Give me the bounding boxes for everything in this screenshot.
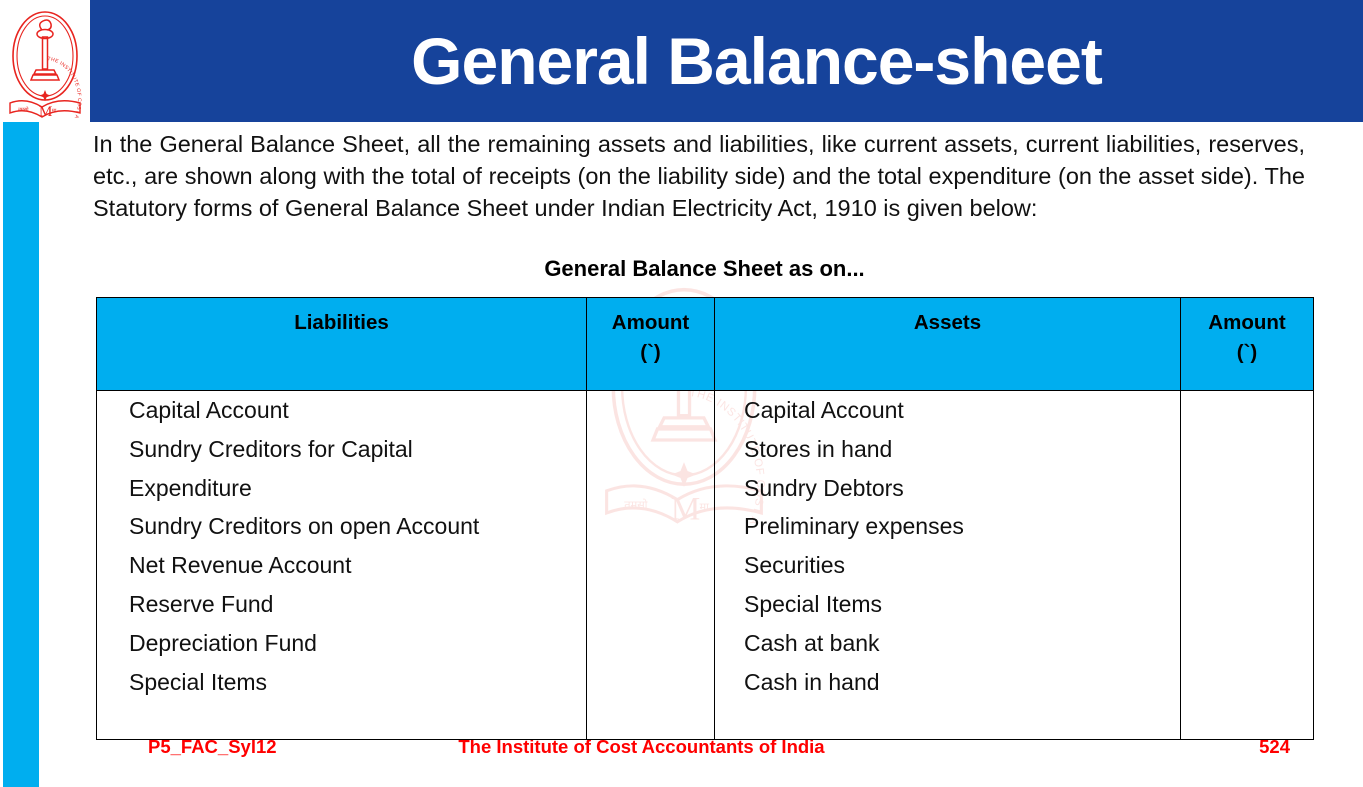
table-caption: General Balance Sheet as on... [96,256,1313,282]
institute-logo: THE INSTITUTE OF COST ACCOUNTANTS OF IND… [6,4,84,118]
list-item: Cash in hand [715,663,1180,702]
list-item: Expenditure [97,469,586,508]
header-label: Assets [914,311,981,334]
svg-text:मा: मा [52,108,57,114]
list-item: Special Items [715,585,1180,624]
column-header-assets: Assets [715,298,1181,391]
header-label-line1: Amount [1208,311,1285,334]
general-balance-sheet-table: Liabilities Amount (`) Assets Amount (`)… [96,297,1314,740]
table-body-row: Capital AccountSundry Creditors for Capi… [97,391,1314,740]
assets-cell: Capital AccountStores in handSundry Debt… [715,391,1181,740]
list-item: Special Items [97,663,586,702]
table-header-row: Liabilities Amount (`) Assets Amount (`) [97,298,1314,391]
header-label-line2: (`) [1237,341,1257,364]
body-paragraph: In the General Balance Sheet, all the re… [93,128,1305,224]
svg-text:तमसो: तमसो [18,106,29,113]
left-accent-stripe [3,122,39,787]
list-item: Reserve Fund [97,585,586,624]
list-item: Securities [715,546,1180,585]
amount-right-cell [1181,391,1314,740]
list-item: Preliminary expenses [715,507,1180,546]
header-label-line2: (`) [640,341,660,364]
amount-left-cell [587,391,715,740]
column-header-amount-left: Amount (`) [587,298,715,391]
liabilities-list: Capital AccountSundry Creditors for Capi… [97,391,586,701]
slide-header-bar: General Balance-sheet [90,0,1363,122]
column-header-liabilities: Liabilities [97,298,587,391]
page-title: General Balance-sheet [90,28,1363,94]
list-item: Cash at bank [715,624,1180,663]
slide-footer: P5_FAC_Syl12 The Institute of Cost Accou… [0,736,1363,766]
list-item: Capital Account [715,391,1180,430]
list-item: Sundry Creditors for Capital [97,430,586,469]
column-header-amount-right: Amount (`) [1181,298,1314,391]
list-item: Depreciation Fund [97,624,586,663]
header-label: Liabilities [294,311,389,334]
list-item: Sundry Debtors [715,469,1180,508]
list-item: Sundry Creditors on open Account [97,507,586,546]
assets-list: Capital AccountStores in handSundry Debt… [715,391,1180,701]
list-item: Capital Account [97,391,586,430]
list-item: Net Revenue Account [97,546,586,585]
list-item: Stores in hand [715,430,1180,469]
liabilities-cell: Capital AccountSundry Creditors for Capi… [97,391,587,740]
header-label-line1: Amount [612,311,689,334]
svg-text:M: M [39,104,52,118]
